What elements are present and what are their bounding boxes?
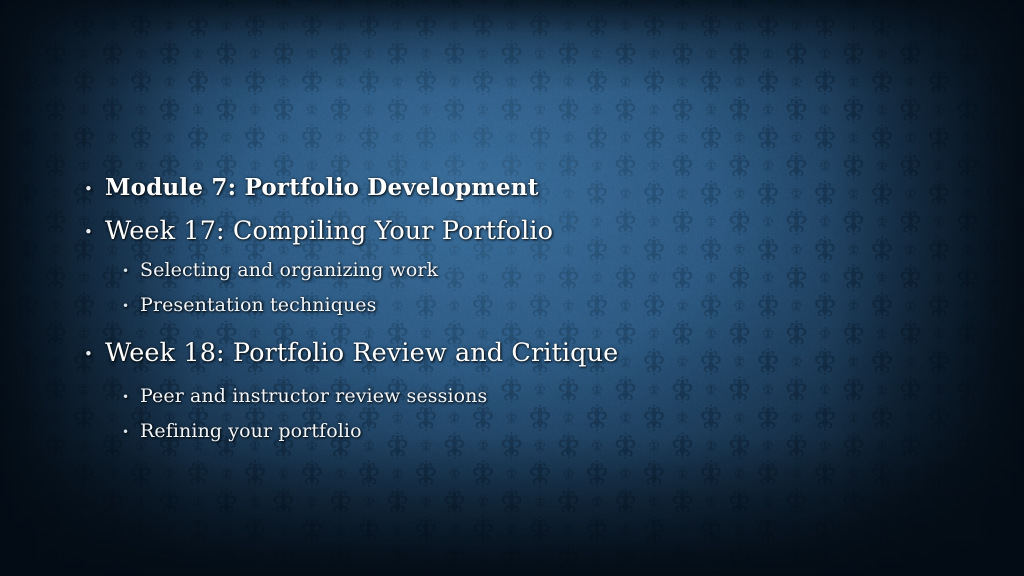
slide-content: • Module 7: Portfolio Development • Week… — [0, 0, 1024, 576]
list-item: • Refining your portfolio — [84, 422, 704, 443]
list-item: • Peer and instructor review sessions — [84, 387, 704, 408]
bullet-icon: • — [122, 387, 140, 408]
bullet-list: • Module 7: Portfolio Development • Week… — [84, 176, 704, 457]
list-item: • Module 7: Portfolio Development — [84, 176, 704, 202]
list-item: • Week 17: Compiling Your Portfolio — [84, 219, 704, 245]
list-item-label: Peer and instructor review sessions — [140, 387, 487, 406]
list-item-label: Week 17: Compiling Your Portfolio — [105, 219, 553, 245]
list-item-label: Selecting and organizing work — [140, 261, 438, 280]
list-item: • Presentation techniques — [84, 296, 704, 317]
list-item-label: Refining your portfolio — [140, 422, 362, 441]
list-item-label: Week 18: Portfolio Review and Critique — [105, 341, 618, 367]
bullet-icon: • — [122, 422, 140, 443]
bullet-icon: • — [122, 261, 140, 282]
bullet-icon: • — [84, 341, 105, 367]
list-item: • Selecting and organizing work — [84, 261, 704, 282]
bullet-icon: • — [84, 219, 105, 245]
list-item: • Week 18: Portfolio Review and Critique — [84, 341, 704, 367]
presentation-slide: • Module 7: Portfolio Development • Week… — [0, 0, 1024, 576]
list-item-label: Presentation techniques — [140, 296, 377, 315]
bullet-icon: • — [122, 296, 140, 317]
list-item-label: Module 7: Portfolio Development — [105, 176, 539, 199]
bullet-icon: • — [84, 176, 105, 202]
